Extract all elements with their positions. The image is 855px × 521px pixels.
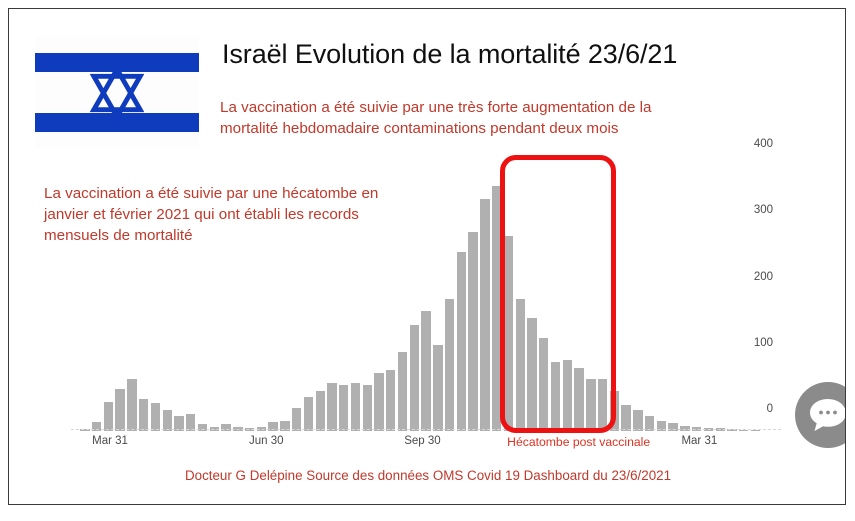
x-axis-tick-label: Sep 30 [404, 435, 440, 447]
slide-canvas: Israël Evolution de la mortalité 23/6/21… [8, 8, 846, 505]
source-caption: Docteur G Delépine Source des données OM… [9, 468, 846, 483]
chart-bar [304, 397, 313, 431]
chart-bar [480, 199, 489, 431]
chart-bar [151, 403, 160, 431]
chart-bar [316, 391, 325, 431]
chart-bar [433, 345, 442, 431]
y-axis-tick-label: 0 [767, 403, 773, 415]
chart-plot-area [71, 131, 781, 431]
page-title: Israël Evolution de la mortalité 23/6/21 [222, 39, 792, 70]
chat-widget-button[interactable] [795, 382, 846, 448]
chart-bar [163, 410, 172, 431]
y-axis-tick-label: 400 [754, 138, 773, 150]
chart-bar [374, 373, 383, 431]
speech-bubble-icon [808, 397, 846, 433]
y-axis-tick-label: 200 [754, 271, 773, 283]
chart-bar [445, 299, 454, 431]
y-axis: 0100200300400 [727, 131, 773, 409]
chart-bar [351, 383, 360, 431]
chart-bar [127, 379, 136, 431]
x-axis-tick-label: Mar 31 [681, 435, 717, 447]
hecatombe-highlight-rectangle [500, 155, 616, 433]
x-axis: Mar 31Jun 30Sep 30Hécatombe post vaccina… [71, 435, 781, 455]
chart-bar [139, 399, 148, 431]
slide-root: Israël Evolution de la mortalité 23/6/21… [0, 0, 855, 521]
chart-baseline [71, 429, 781, 431]
chart-bar [398, 352, 407, 431]
chart-bar [410, 325, 419, 431]
chart-bar [633, 410, 642, 431]
mortality-bar-chart [71, 131, 781, 431]
star-of-david-icon [90, 66, 144, 120]
chart-bar [104, 402, 113, 431]
x-axis-tick-label: Mar 31 [92, 435, 128, 447]
chart-bar [115, 389, 124, 431]
chart-bar [457, 252, 466, 431]
bar-series [79, 153, 761, 431]
chart-bar [468, 232, 477, 431]
chart-bar [339, 385, 348, 431]
chart-bar [386, 370, 395, 431]
chart-bar [292, 408, 301, 431]
x-axis-tick-label: Jun 30 [249, 435, 284, 447]
y-axis-tick-label: 300 [754, 204, 773, 216]
chart-bar [327, 383, 336, 431]
y-axis-tick-label: 100 [754, 337, 773, 349]
chart-bar [363, 385, 372, 431]
x-axis-highlight-label: Hécatombe post vaccinale [507, 435, 650, 449]
chart-bar [421, 311, 430, 431]
chart-bar [621, 405, 630, 431]
